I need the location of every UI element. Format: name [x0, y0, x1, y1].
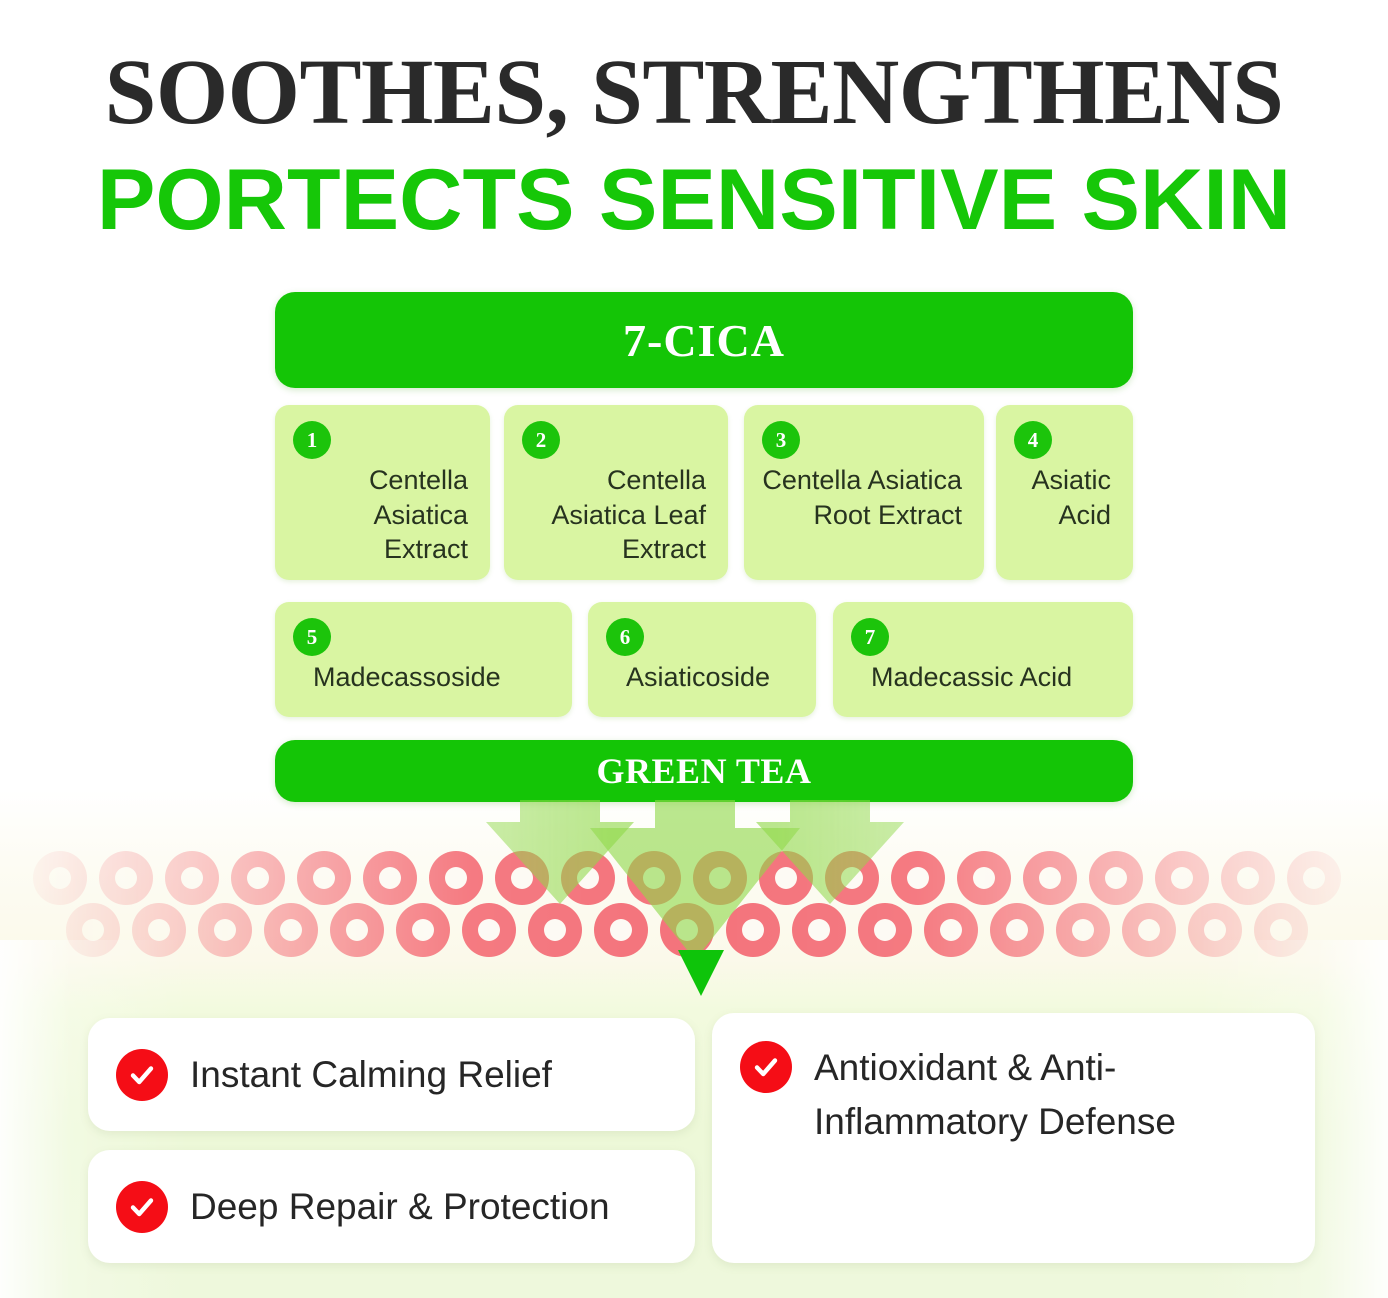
headline-block: SOOTHES, STRENGTHENS PORTECTS SENSITIVE …	[0, 0, 1388, 243]
ingredient-label: Asiaticoside	[626, 660, 802, 695]
ingredient-number-badge: 6	[606, 618, 644, 656]
benefit-label: Deep Repair & Protection	[190, 1182, 626, 1231]
ingredient-card: 5 Madecassoside	[275, 602, 572, 717]
benefit-label: Antioxidant & Anti-Inflammatory Defense	[814, 1041, 1315, 1149]
ingredient-number-badge: 7	[851, 618, 889, 656]
ingredient-number-badge: 2	[522, 421, 560, 459]
benefit-card: Deep Repair & Protection	[88, 1150, 695, 1263]
check-icon	[740, 1041, 792, 1093]
infographic-page: SOOTHES, STRENGTHENS PORTECTS SENSITIVE …	[0, 0, 1388, 1298]
benefit-card: Antioxidant & Anti-Inflammatory Defense	[712, 1013, 1315, 1263]
skin-penetration-illustration	[0, 800, 1388, 1010]
ingredient-label: Centella Asiatica Leaf Extract	[516, 463, 706, 567]
check-icon	[116, 1181, 168, 1233]
headline-line-1: SOOTHES, STRENGTHENS	[0, 0, 1388, 139]
ingredient-number-badge: 4	[1014, 421, 1052, 459]
ingredient-card: 3 Centella Asiatica Root Extract	[744, 405, 984, 580]
ingredient-card: 7 Madecassic Acid	[833, 602, 1133, 717]
ingredient-card: 1 Centella Asiatica Extract	[275, 405, 490, 580]
ingredient-card: 6 Asiaticoside	[588, 602, 816, 717]
down-pointer-icon	[678, 950, 724, 996]
ingredient-label: Madecassic Acid	[871, 660, 1119, 695]
ingredient-label: Centella Asiatica Extract	[287, 463, 468, 567]
check-icon	[116, 1049, 168, 1101]
ingredient-card: 4 Asiatic Acid	[996, 405, 1133, 580]
headline-line-2: PORTECTS SENSITIVE SKIN	[0, 139, 1388, 243]
benefit-card: Instant Calming Relief	[88, 1018, 695, 1131]
ingredient-card: 2 Centella Asiatica Leaf Extract	[504, 405, 728, 580]
banner-green-tea: GREEN TEA	[275, 740, 1133, 802]
banner-7-cica: 7-CICA	[275, 292, 1133, 388]
ingredient-label: Asiatic Acid	[1008, 463, 1111, 532]
ingredient-number-badge: 3	[762, 421, 800, 459]
ingredient-number-badge: 5	[293, 618, 331, 656]
ingredient-label: Centella Asiatica Root Extract	[756, 463, 962, 532]
ingredient-label: Madecassoside	[313, 660, 558, 695]
ingredient-number-badge: 1	[293, 421, 331, 459]
benefit-label: Instant Calming Relief	[190, 1050, 568, 1099]
